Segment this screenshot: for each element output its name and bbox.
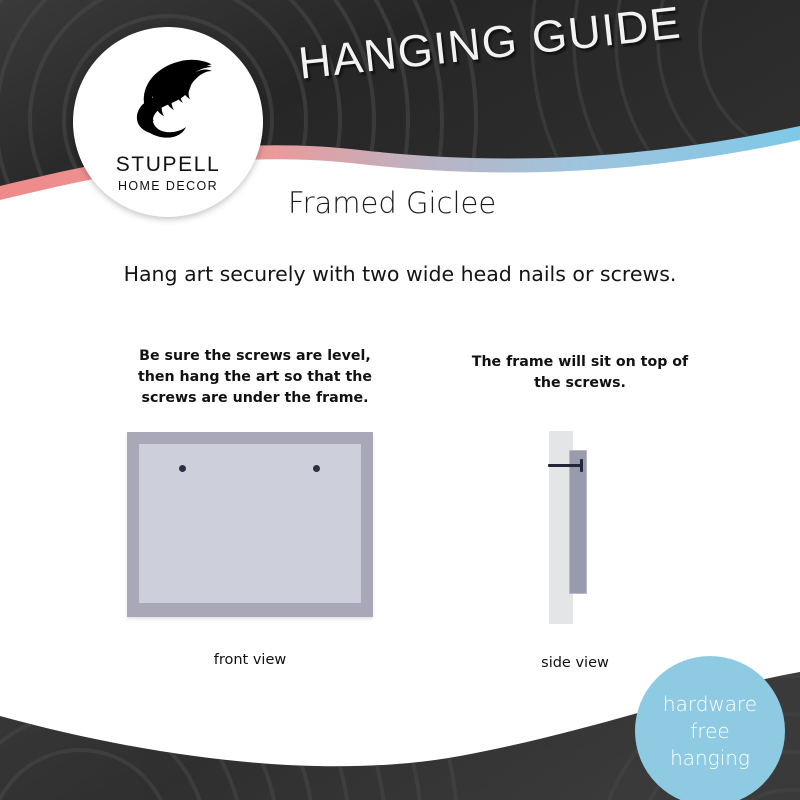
brand-wordmark: STUPELL	[73, 153, 263, 177]
page-title: HANGING GUIDE	[296, 0, 684, 90]
badge-line-2: free	[690, 718, 729, 745]
brand-logo-badge: STUPELL HOME DECOR	[73, 27, 263, 217]
front-view-label: front view	[127, 652, 373, 668]
side-view-label: side view	[505, 655, 645, 671]
front-view-instruction: Be sure the screws are level, then hang …	[130, 346, 380, 409]
stupell-swoosh-logo-icon	[120, 45, 216, 149]
picture-frame-side	[569, 450, 587, 594]
picture-frame-front	[127, 432, 373, 617]
product-type-heading: Framed Giclee	[288, 186, 496, 220]
screw-dot-right-icon	[313, 465, 320, 472]
screw-dot-left-icon	[179, 465, 186, 472]
hanging-guide-page: HANGING GUIDE STUPELL HOME DECOR Framed …	[0, 0, 800, 800]
hardware-free-hanging-badge: hardware free hanging	[635, 656, 785, 800]
screw-shaft-icon	[548, 464, 583, 467]
badge-line-1: hardware	[663, 691, 757, 718]
side-view-instruction: The frame will sit on top of the screws.	[470, 352, 690, 394]
badge-line-3: hanging	[670, 745, 750, 772]
front-view-diagram	[127, 432, 373, 617]
picture-frame-mat	[139, 444, 361, 603]
brand-subwordmark: HOME DECOR	[73, 179, 263, 193]
screw-head-icon	[580, 459, 583, 472]
intro-instruction-text: Hang art securely with two wide head nai…	[124, 262, 677, 286]
